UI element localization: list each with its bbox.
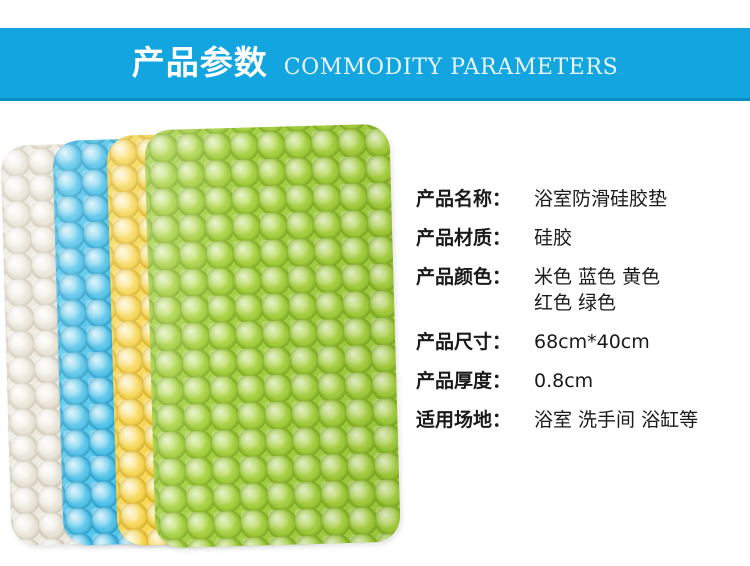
spec-row-colors: 产品颜色： 米色 蓝色 黄色 红色 绿色	[416, 264, 736, 316]
product-mat-green	[144, 124, 401, 549]
page-header-banner: 产品参数 COMMODITY PARAMETERS	[0, 28, 750, 98]
spec-row-usage: 适用场地： 浴室 洗手间 浴缸等	[416, 407, 736, 433]
spec-value: 0.8cm	[534, 368, 593, 394]
banner-title-group: 产品参数 COMMODITY PARAMETERS	[132, 46, 619, 79]
spec-label: 产品材质：	[416, 225, 534, 251]
spec-label: 产品厚度：	[416, 368, 534, 394]
spec-value-line: 浴室防滑硅胶垫	[534, 186, 667, 212]
spec-row-size: 产品尺寸： 68cm*40cm	[416, 329, 736, 355]
spec-value-line: 硅胶	[534, 225, 572, 251]
banner-underline-divider	[0, 98, 750, 101]
product-spec-list: 产品名称： 浴室防滑硅胶垫 产品材质： 硅胶 产品颜色： 米色 蓝色 黄色 红色…	[416, 186, 736, 446]
page-title-chinese: 产品参数	[132, 46, 268, 79]
spec-label: 产品颜色：	[416, 264, 534, 290]
spec-label: 产品尺寸：	[416, 329, 534, 355]
product-photo	[0, 125, 410, 550]
page-title-english: COMMODITY PARAMETERS	[284, 57, 619, 79]
spec-value-line: 0.8cm	[534, 368, 593, 394]
spec-value: 68cm*40cm	[534, 329, 650, 355]
spec-row-material: 产品材质： 硅胶	[416, 225, 736, 251]
spec-value-line: 米色 蓝色 黄色	[534, 264, 660, 290]
mat-sheen-overlay	[144, 124, 401, 549]
spec-label: 适用场地：	[416, 407, 534, 433]
spec-value: 硅胶	[534, 225, 572, 251]
spec-label: 产品名称：	[416, 186, 534, 212]
spec-value-line: 68cm*40cm	[534, 329, 650, 355]
spec-value: 浴室防滑硅胶垫	[534, 186, 667, 212]
spec-row-thickness: 产品厚度： 0.8cm	[416, 368, 736, 394]
spec-value: 米色 蓝色 黄色 红色 绿色	[534, 264, 660, 316]
spec-row-product-name: 产品名称： 浴室防滑硅胶垫	[416, 186, 736, 212]
spec-value: 浴室 洗手间 浴缸等	[534, 407, 698, 433]
spec-value-line: 浴室 洗手间 浴缸等	[534, 407, 698, 433]
spec-value-line: 红色 绿色	[534, 290, 660, 316]
